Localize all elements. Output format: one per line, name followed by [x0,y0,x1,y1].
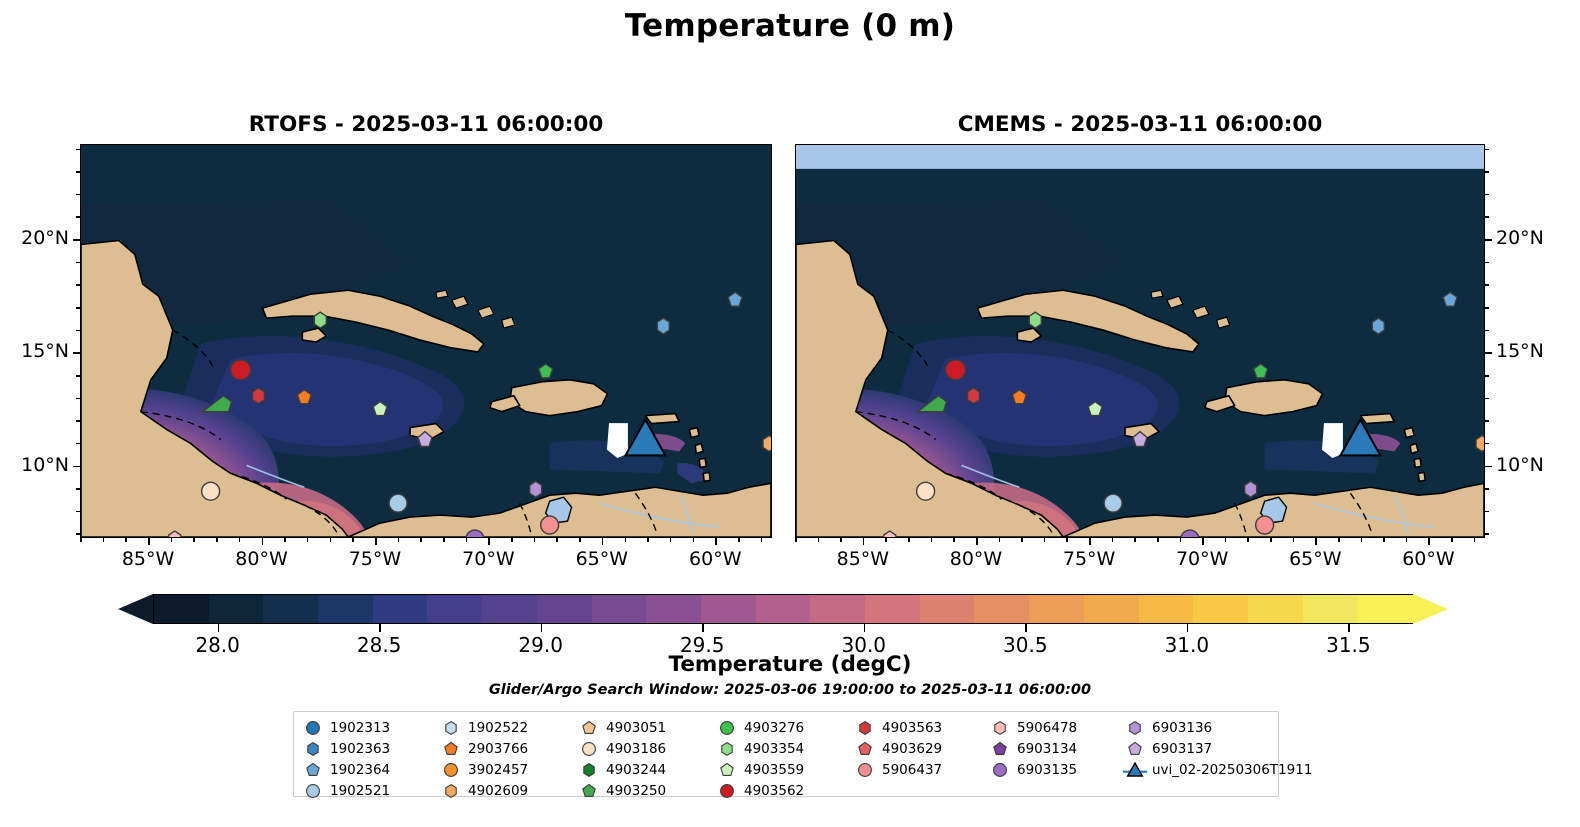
x-axis-minor-tick [216,538,218,542]
x-axis-minor-tick [284,538,286,542]
legend-entry-label: uvi_02-20250306T1911 [1148,762,1312,778]
legend-column: 590647869031346903135 [987,717,1122,801]
x-axis-minor-tick [1338,538,1340,542]
float-marker-icon [576,717,602,738]
x-axis-minor-tick [556,538,558,542]
y-axis-minor-tick [1485,171,1489,173]
x-axis-minor-tick [670,538,672,542]
colorbar-segment [646,595,703,623]
float-marker-icon [300,759,326,780]
x-axis-minor-tick [579,538,581,542]
y-axis-minor-tick [1485,307,1489,309]
x-axis-tick [1428,538,1430,545]
x-axis-minor-tick [1406,538,1408,542]
legend-entry-label: 6903135 [1013,762,1077,778]
x-axis-tick-label: 85°W [103,548,193,570]
y-axis-minor-tick [76,284,80,286]
float-marker-icon [438,717,464,738]
legend-entry[interactable]: 4903563 [852,717,987,738]
y-axis-minor-tick [1485,216,1489,218]
legend-entry[interactable]: 5906478 [987,717,1122,738]
float-marker-icon [714,717,740,738]
x-axis-minor-tick [1383,538,1385,542]
x-axis-minor-tick [1044,538,1046,542]
float-marker-icon [714,780,740,801]
x-axis-minor-tick [330,538,332,542]
x-axis-minor-tick [953,538,955,542]
legend-entry-label: 4902609 [464,783,528,799]
float-marker-icon [987,717,1013,738]
legend-entry[interactable]: 1902521 [300,780,438,801]
legend-entry-label: 4903276 [740,720,804,736]
y-axis-minor-tick [76,262,80,264]
x-axis-minor-tick [443,538,445,542]
colorbar-segment [537,595,594,623]
colorbar-segment [1084,595,1141,623]
x-axis-minor-tick [352,538,354,542]
float-marker-icon [438,759,464,780]
x-axis-tick [1089,538,1091,545]
y-axis-tick [1485,239,1492,241]
colorbar-segment [1193,595,1250,623]
legend-column: 4903276490335449035594903562 [714,717,852,801]
float-marker-icon [576,738,602,759]
y-axis-minor-tick [1485,284,1489,286]
legend-entry-label: 3902457 [464,762,528,778]
legend-entry[interactable]: 4903250 [576,780,714,801]
x-axis-minor-tick [931,538,933,542]
legend-box[interactable]: 1902313190236319023641902521190252229037… [293,711,1279,797]
x-axis-tick [863,538,865,545]
legend-entry-label: 4903559 [740,762,804,778]
y-axis-minor-tick [76,307,80,309]
x-axis-tick [262,538,264,545]
x-axis-minor-tick [171,538,173,542]
legend-entry[interactable]: 6903134 [987,738,1122,759]
x-axis-minor-tick [999,538,1001,542]
colorbar-tick [1348,624,1350,632]
y-axis-minor-tick [1485,375,1489,377]
map-panel-rtofs[interactable] [80,144,772,538]
x-axis-minor-tick [1134,538,1136,542]
x-axis-minor-tick [398,538,400,542]
y-axis-minor-tick [1485,488,1489,490]
y-axis-minor-tick [76,149,80,151]
legend-column: 4903051490318649032444903250 [576,717,714,801]
y-axis-minor-tick [76,194,80,196]
y-axis-minor-tick [1485,420,1489,422]
legend-column: 490356349036295906437 [852,717,987,801]
x-axis-minor-tick [647,538,649,542]
float-marker-icon [300,780,326,801]
glider-marker-icon [1122,759,1148,780]
colorbar-segment [592,595,649,623]
legend-column: 1902522290376639024574902609 [438,717,576,801]
legend-entry[interactable]: 6903137 [1122,738,1297,759]
x-axis-tick [488,538,490,545]
x-axis-minor-tick [1180,538,1182,542]
x-axis-tick-label: 75°W [330,548,420,570]
legend-entry-label: 4903051 [602,720,666,736]
legend-entry-label: 1902363 [326,741,390,757]
legend-entry[interactable]: 5906437 [852,759,987,780]
y-axis-tick [73,466,80,468]
y-axis-tick-label: 20°N [1496,227,1570,249]
legend-entry-label: 6903137 [1148,741,1212,757]
y-axis-minor-tick [1485,149,1489,151]
colorbar-segment [865,595,922,623]
legend-entry[interactable]: 2903766 [438,738,576,759]
colorbar-tick [379,624,381,632]
y-axis-minor-tick [1485,262,1489,264]
figure-title: Temperature (0 m) [0,8,1580,44]
panel-title-cmems: CMEMS - 2025-03-11 06:00:00 [795,112,1485,137]
y-axis-minor-tick [1485,511,1489,513]
x-axis-minor-tick [738,538,740,542]
colorbar-segment [1248,595,1305,623]
x-axis-minor-tick [239,538,241,542]
x-axis-tick-label: 65°W [1270,548,1360,570]
y-axis-minor-tick [76,375,80,377]
x-axis-minor-tick [885,538,887,542]
colorbar-tick [1025,624,1027,632]
float-marker-icon [438,738,464,759]
x-axis-minor-tick [1225,538,1227,542]
x-axis-minor-tick [693,538,695,542]
x-axis-tick [715,538,717,545]
x-axis-minor-tick [1270,538,1272,542]
float-marker-icon [987,759,1013,780]
float-marker-icon [852,759,878,780]
y-axis-tick [73,239,80,241]
legend-entry[interactable]: 4903051 [576,717,714,738]
float-marker-icon [300,717,326,738]
x-axis-minor-tick [1112,538,1114,542]
x-axis-tick-label: 70°W [443,548,533,570]
y-axis-minor-tick [76,533,80,535]
legend-entry-label: 1902521 [326,783,390,799]
x-axis-minor-tick [1451,538,1453,542]
y-axis-minor-tick [1485,194,1489,196]
colorbar-tick [702,624,704,632]
x-axis-minor-tick [625,538,627,542]
colorbar-segment [154,595,211,623]
float-marker-icon [987,738,1013,759]
y-axis-minor-tick [1485,443,1489,445]
x-axis-minor-tick [511,538,513,542]
float-marker-icon [852,738,878,759]
legend-entry-label: 1902522 [464,720,528,736]
x-axis-tick-label: 75°W [1044,548,1134,570]
legend-entry[interactable]: 1902364 [300,759,438,780]
x-axis-minor-tick [420,538,422,542]
colorbar-segment [1029,595,1086,623]
colorbar-segment [756,595,813,623]
legend-entry[interactable]: 4903629 [852,738,987,759]
colorbar-segment [263,595,320,623]
legend-entry-label: 4903186 [602,741,666,757]
x-axis-minor-tick [1021,538,1023,542]
legend-entry[interactable]: 4903559 [714,759,852,780]
legend-entry-label: 1902313 [326,720,390,736]
x-axis-tick [976,538,978,545]
float-marker-icon [714,759,740,780]
legend-entry-label: 4903562 [740,783,804,799]
legend-entry-label: 5906437 [878,762,942,778]
legend-entry-label: 4903629 [878,741,942,757]
x-axis-minor-tick [80,538,82,542]
legend-grid: 1902313190236319023641902521190252229037… [300,717,1297,801]
colorbar-segment [974,595,1031,623]
y-axis-minor-tick [76,216,80,218]
colorbar-segment [1303,595,1360,623]
legend-column: 69031366903137uvi_02-20250306T1911 [1122,717,1297,801]
colorbar-extend-min-arrow [118,594,153,624]
colorbar-segment [209,595,266,623]
x-axis-minor-tick [908,538,910,542]
legend-entry-label: 4903250 [602,783,666,799]
x-axis-minor-tick [818,538,820,542]
x-axis-minor-tick [103,538,105,542]
y-axis-minor-tick [76,443,80,445]
float-marker-icon [576,780,602,801]
figure-canvas: Temperature (0 m) RTOFS - 2025-03-11 06:… [0,0,1580,827]
colorbar-segment [810,595,867,623]
legend-entry-label: 4903244 [602,762,666,778]
y-axis-minor-tick [76,398,80,400]
y-axis-tick-label: 10°N [1496,454,1570,476]
x-axis-minor-tick [1474,538,1476,542]
x-axis-tick-label: 60°W [1383,548,1473,570]
colorbar-extend-max-arrow [1413,594,1448,624]
y-axis-minor-tick [76,171,80,173]
x-axis-minor-tick [534,538,536,542]
x-axis-minor-tick [795,538,797,542]
legend-entry-label: 2903766 [464,741,528,757]
colorbar-segment [1139,595,1196,623]
legend-entry[interactable]: 4903562 [714,780,852,801]
colorbar[interactable]: 28.028.529.029.530.030.531.031.5 [118,594,1448,624]
legend-entry[interactable]: 4903354 [714,738,852,759]
x-axis-tick-label: 80°W [931,548,1021,570]
colorbar-tick [1187,624,1189,632]
colorbar-segment [373,595,430,623]
x-axis-minor-tick [840,538,842,542]
x-axis-tick [1202,538,1204,545]
y-axis-minor-tick [76,420,80,422]
legend-entry-label: 4903354 [740,741,804,757]
legend-entry[interactable]: uvi_02-20250306T1911 [1122,759,1297,780]
x-axis-tick-label: 80°W [217,548,307,570]
map-panel-cmems[interactable] [795,144,1485,538]
colorbar-segment [427,595,484,623]
float-marker-icon [852,717,878,738]
x-axis-tick-label: 70°W [1157,548,1247,570]
float-marker-icon [300,738,326,759]
x-axis-tick [1315,538,1317,545]
x-axis-tick-label: 85°W [818,548,908,570]
float-marker-icon [1122,717,1148,738]
legend-entry[interactable]: 6903136 [1122,717,1297,738]
y-axis-minor-tick [76,330,80,332]
colorbar-tick [864,624,866,632]
x-axis-minor-tick [307,538,309,542]
y-axis-tick-label: 10°N [0,454,69,476]
y-axis-minor-tick [76,511,80,513]
y-axis-tick-label: 15°N [0,340,69,362]
legend-entry-label: 1902364 [326,762,390,778]
float-marker-icon [714,738,740,759]
x-axis-minor-tick [125,538,127,542]
float-marker-icon [438,780,464,801]
panel-title-rtofs: RTOFS - 2025-03-11 06:00:00 [80,112,772,137]
legend-entry-label: 6903136 [1148,720,1212,736]
x-axis-minor-tick [1247,538,1249,542]
colorbar-segment [920,595,977,623]
x-axis-tick [375,538,377,545]
colorbar-label: Temperature (degC) [0,652,1580,677]
colorbar-segment [318,595,375,623]
y-axis-tick [1485,466,1492,468]
y-axis-minor-tick [76,488,80,490]
legend-entry-label: 4903563 [878,720,942,736]
legend-entry[interactable]: 4903244 [576,759,714,780]
colorbar-tick [218,624,220,632]
x-axis-minor-tick [761,538,763,542]
colorbar-segment [1357,595,1414,623]
y-axis-minor-tick [1485,533,1489,535]
legend-entry[interactable]: 1902313 [300,717,438,738]
legend-entry[interactable]: 4902609 [438,780,576,801]
x-axis-minor-tick [1157,538,1159,542]
float-marker-icon [576,759,602,780]
y-axis-tick [73,352,80,354]
y-axis-tick-label: 15°N [1496,340,1570,362]
y-axis-minor-tick [1485,398,1489,400]
y-axis-tick [1485,352,1492,354]
x-axis-minor-tick [193,538,195,542]
y-axis-minor-tick [1485,330,1489,332]
colorbar-gradient [153,594,1413,624]
legend-entry-label: 6903134 [1013,741,1077,757]
x-axis-minor-tick [1066,538,1068,542]
x-axis-minor-tick [466,538,468,542]
x-axis-tick [602,538,604,545]
legend-entry-label: 5906478 [1013,720,1077,736]
x-axis-minor-tick [1361,538,1363,542]
legend-column: 1902313190236319023641902521 [300,717,438,801]
colorbar-segment [701,595,758,623]
x-axis-tick [148,538,150,545]
legend-entry[interactable]: 4903186 [576,738,714,759]
float-marker-icon [1122,738,1148,759]
legend-entry[interactable]: 1902522 [438,717,576,738]
legend-entry[interactable]: 1902363 [300,738,438,759]
colorbar-tick [541,624,543,632]
colorbar-segment [482,595,539,623]
legend-entry[interactable]: 6903135 [987,759,1122,780]
x-axis-minor-tick [1293,538,1295,542]
map-render-rtofs [81,145,771,537]
search-window-text: Glider/Argo Search Window: 2025-03-06 19… [0,682,1580,698]
x-axis-tick-label: 65°W [557,548,647,570]
legend-entry[interactable]: 3902457 [438,759,576,780]
y-axis-tick-label: 20°N [0,227,69,249]
map-render-cmems [796,145,1484,537]
x-axis-tick-label: 60°W [670,548,760,570]
legend-entry[interactable]: 4903276 [714,717,852,738]
